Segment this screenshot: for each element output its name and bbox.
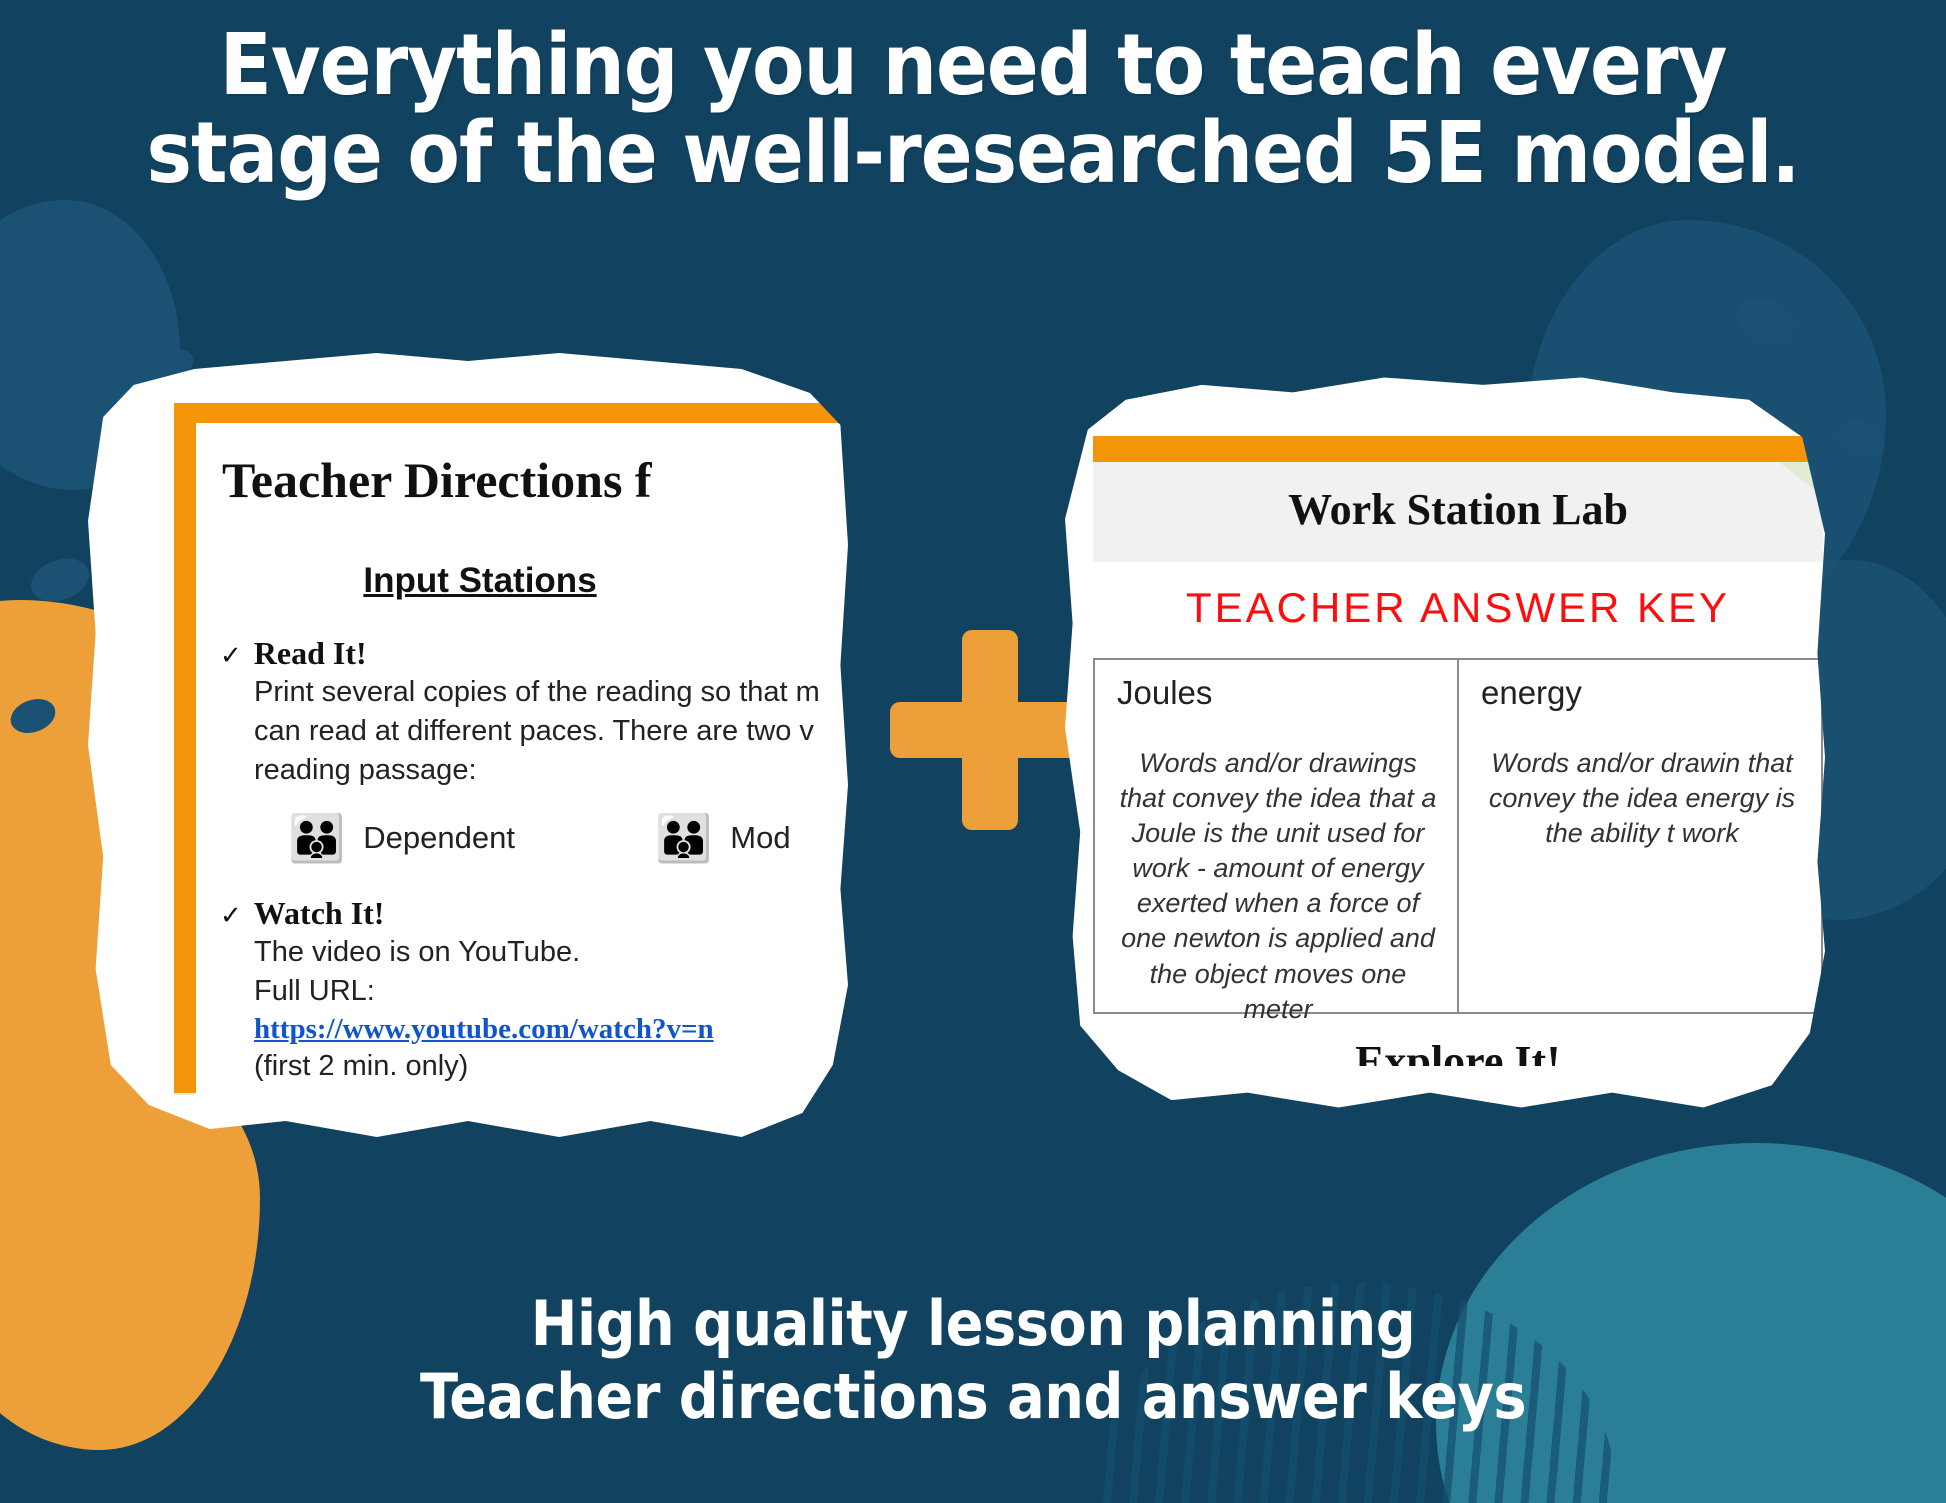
read-it-heading: ✓Read It! bbox=[220, 635, 848, 672]
people-seated-icon: 👪 bbox=[655, 815, 712, 861]
plus-horizontal-bar bbox=[890, 702, 1090, 758]
headline-line-2: stage of the well-researched 5E model. bbox=[60, 110, 1886, 198]
plus-icon bbox=[890, 630, 1090, 830]
reading-version-options: 👪 Dependent 👪 Mod bbox=[288, 815, 848, 861]
definition-energy: Words and/or drawin that convey the idea… bbox=[1481, 746, 1803, 851]
watch-it-note: (first 2 min. only) bbox=[254, 1048, 848, 1085]
left-doc-title: Teacher Directions f bbox=[222, 451, 848, 509]
input-stations-heading: Input Stations bbox=[196, 561, 848, 601]
right-doc-title: Work Station Lab bbox=[1093, 462, 1823, 535]
term-energy: energy bbox=[1481, 674, 1803, 712]
bottom-line-2: Teacher directions and answer keys bbox=[0, 1360, 1946, 1433]
read-it-line-1: Print several copies of the reading so t… bbox=[254, 674, 848, 711]
term-joules: Joules bbox=[1117, 674, 1439, 712]
watch-it-label: Watch It! bbox=[254, 895, 385, 931]
headline-line-1: Everything you need to teach every bbox=[220, 16, 1727, 115]
answer-key-table: Joules Words and/or drawings that convey… bbox=[1093, 658, 1823, 1014]
read-it-line-3: reading passage: bbox=[254, 752, 848, 789]
watch-it-line-2: Full URL: bbox=[254, 973, 848, 1010]
bottom-caption: High quality lesson planning Teacher dir… bbox=[0, 1287, 1946, 1433]
table-cell-joules: Joules Words and/or drawings that convey… bbox=[1093, 660, 1459, 1012]
read-it-label: Read It! bbox=[254, 635, 367, 671]
option-label-dependent: Dependent bbox=[363, 820, 515, 856]
poster-canvas: Everything you need to teach every stage… bbox=[0, 0, 1946, 1503]
read-it-line-2: can read at different paces. There are t… bbox=[254, 713, 848, 750]
watch-it-line-1: The video is on YouTube. bbox=[254, 934, 848, 971]
watch-it-heading: ✓Watch It! bbox=[220, 895, 848, 932]
definition-joules: Words and/or drawings that convey the id… bbox=[1117, 746, 1439, 1027]
teacher-directions-page: Teacher Directions f Input Stations ✓Rea… bbox=[174, 403, 848, 1093]
checkmark-icon: ✓ bbox=[220, 901, 242, 931]
people-seated-icon: 👪 bbox=[288, 815, 345, 861]
document-header-band: Work Station Lab bbox=[1093, 462, 1823, 562]
orange-top-bar bbox=[1093, 436, 1823, 462]
page-title: Everything you need to teach every stage… bbox=[0, 22, 1946, 199]
work-station-lab-page: Work Station Lab TEACHER ANSWER KEY Joul… bbox=[1093, 436, 1823, 1066]
option-label-modified: Mod bbox=[730, 820, 790, 856]
left-document-card: Teacher Directions f Input Stations ✓Rea… bbox=[88, 345, 848, 1145]
checkmark-icon: ✓ bbox=[220, 641, 242, 671]
bottom-line-1: High quality lesson planning bbox=[531, 1287, 1415, 1360]
table-cell-energy: energy Words and/or drawin that convey t… bbox=[1459, 660, 1823, 1012]
right-document-card: Work Station Lab TEACHER ANSWER KEY Joul… bbox=[1065, 370, 1825, 1115]
youtube-url-link[interactable]: https://www.youtube.com/watch?v=n bbox=[254, 1013, 848, 1046]
teacher-answer-key-label: TEACHER ANSWER KEY bbox=[1093, 562, 1823, 658]
